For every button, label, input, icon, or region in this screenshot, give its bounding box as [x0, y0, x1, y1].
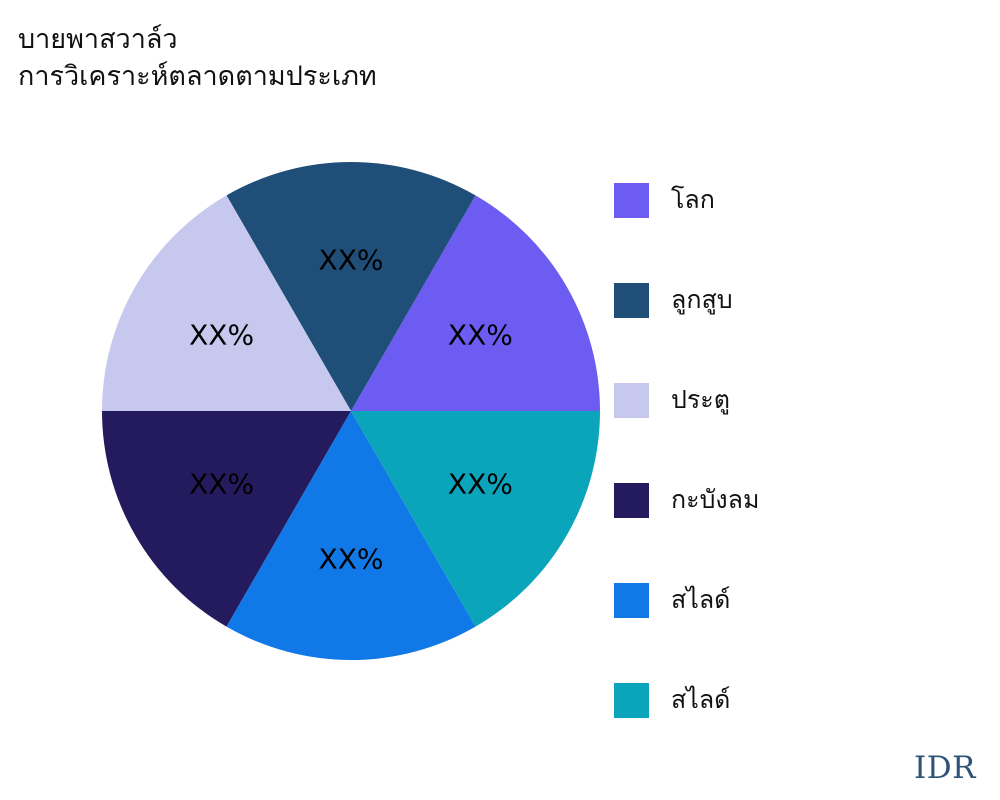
legend-swatch — [614, 583, 649, 618]
legend-swatch — [614, 283, 649, 318]
legend-swatch — [614, 483, 649, 518]
legend-item-label: โลก — [671, 186, 715, 214]
legend-item[interactable]: ลูกสูบ — [614, 250, 984, 350]
pie-svg: XX%XX%XX%XX%XX%XX% — [0, 0, 700, 800]
legend-item[interactable]: โลก — [614, 150, 984, 250]
pie-plot-area: XX%XX%XX%XX%XX%XX% — [0, 0, 700, 800]
legend-item-label: ลูกสูบ — [671, 286, 733, 314]
pie-slice-label: XX% — [189, 318, 254, 351]
legend-item-label: สไลด์ — [671, 686, 730, 714]
legend-swatch — [614, 683, 649, 718]
legend-item[interactable]: สไลด์ — [614, 650, 984, 750]
legend-item[interactable]: กะบังลม — [614, 450, 984, 550]
pie-slice-label: XX% — [189, 468, 254, 501]
legend-swatch — [614, 183, 649, 218]
pie-slice-label: XX% — [448, 468, 513, 501]
pie-slice-label: XX% — [319, 542, 384, 575]
legend-item[interactable]: สไลด์ — [614, 550, 984, 650]
pie-slice-label: XX% — [448, 318, 513, 351]
chart-legend: โลกลูกสูบประตูกะบังลมสไลด์สไลด์ — [614, 150, 984, 750]
legend-swatch — [614, 383, 649, 418]
legend-item-label: สไลด์ — [671, 586, 730, 614]
watermark-idr: IDR — [914, 750, 976, 786]
legend-item-label: กะบังลม — [671, 486, 759, 514]
legend-item[interactable]: ประตู — [614, 350, 984, 450]
pie-chart-figure: บายพาสวาล์ว การวิเคราะห์ตลาดตามประเภท XX… — [0, 0, 1000, 800]
legend-item-label: ประตู — [671, 386, 730, 414]
pie-slice-label: XX% — [319, 244, 384, 277]
